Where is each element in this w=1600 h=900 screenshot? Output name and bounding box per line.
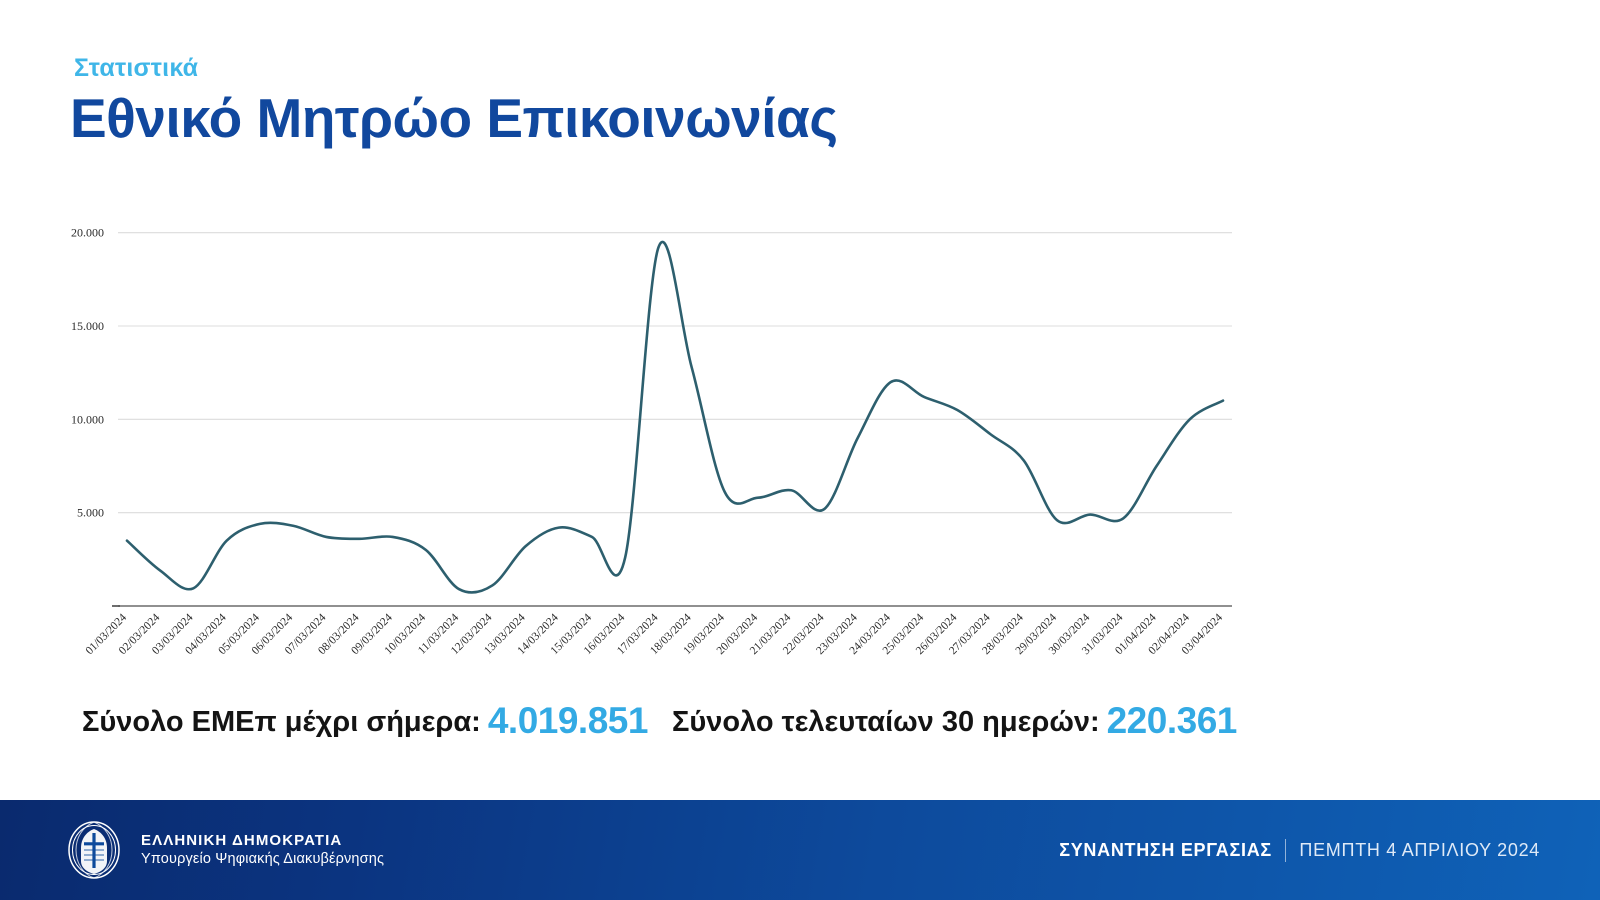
statistics-line-chart: 5.00010.00015.00020.000 01/03/202402/03/… [0, 190, 1300, 630]
page-title: Εθνικό Μητρώο Επικοινωνίας [70, 86, 837, 150]
footer-org-text: ΕΛΛΗΝΙΚΗ ΔΗΜΟΚΡΑΤΙΑ Υπουργείο Ψηφιακής Δ… [141, 831, 384, 870]
chart-data-line [127, 242, 1223, 593]
footer-org-line2: Υπουργείο Ψηφιακής Διακυβέρνησης [141, 850, 384, 869]
footer-meeting-label: ΣΥΝΑΝΤΗΣΗ ΕΡΓΑΣΙΑΣ [1059, 840, 1272, 861]
slide-root: Στατιστικά Εθνικό Μητρώο Επικοινωνίας 5.… [0, 0, 1600, 900]
greek-coat-of-arms-icon [62, 818, 126, 882]
footer-divider [1285, 839, 1287, 862]
chart-canvas: 5.00010.00015.00020.000 01/03/202402/03/… [0, 190, 1300, 660]
chart-x-axis-labels: 01/03/202402/03/202403/03/202404/03/2024… [84, 611, 1226, 657]
y-axis-tick-label: 10.000 [71, 412, 104, 426]
totals-row: Σύνολο ΕΜΕπ μέχρι σήμερα:4.019.851 Σύνολ… [0, 700, 1300, 754]
y-axis-tick-label: 15.000 [71, 319, 104, 333]
page-eyebrow: Στατιστικά [74, 54, 198, 83]
total-emep-label: Σύνολο ΕΜΕπ μέχρι σήμερα: [82, 706, 481, 738]
footer-bar: ΕΛΛΗΝΙΚΗ ΔΗΜΟΚΡΑΤΙΑ Υπουργείο Ψηφιακής Δ… [0, 800, 1600, 900]
total-last30-label: Σύνολο τελευταίων 30 ημερών: [672, 706, 1100, 738]
total-last30-block: Σύνολο τελευταίων 30 ημερών:220.361 [672, 700, 1237, 742]
total-emep-block: Σύνολο ΕΜΕπ μέχρι σήμερα:4.019.851 [82, 700, 648, 742]
footer-meeting-info: ΣΥΝΑΝΤΗΣΗ ΕΡΓΑΣΙΑΣ ΠΕΜΠΤΗ 4 ΑΠΡΙΛΙΟΥ 202… [1059, 839, 1540, 862]
footer-org-line1: ΕΛΛΗΝΙΚΗ ΔΗΜΟΚΡΑΤΙΑ [141, 831, 384, 851]
footer-meeting-date: ΠΕΜΠΤΗ 4 ΑΠΡΙΛΙΟΥ 2024 [1299, 840, 1540, 861]
chart-y-axis-labels: 5.00010.00015.00020.000 [71, 226, 104, 520]
total-last30-value: 220.361 [1107, 700, 1237, 741]
footer-org: ΕΛΛΗΝΙΚΗ ΔΗΜΟΚΡΑΤΙΑ Υπουργείο Ψηφιακής Δ… [62, 818, 384, 882]
total-emep-value: 4.019.851 [488, 700, 648, 741]
y-axis-tick-label: 5.000 [77, 506, 104, 520]
y-axis-tick-label: 20.000 [71, 226, 104, 240]
